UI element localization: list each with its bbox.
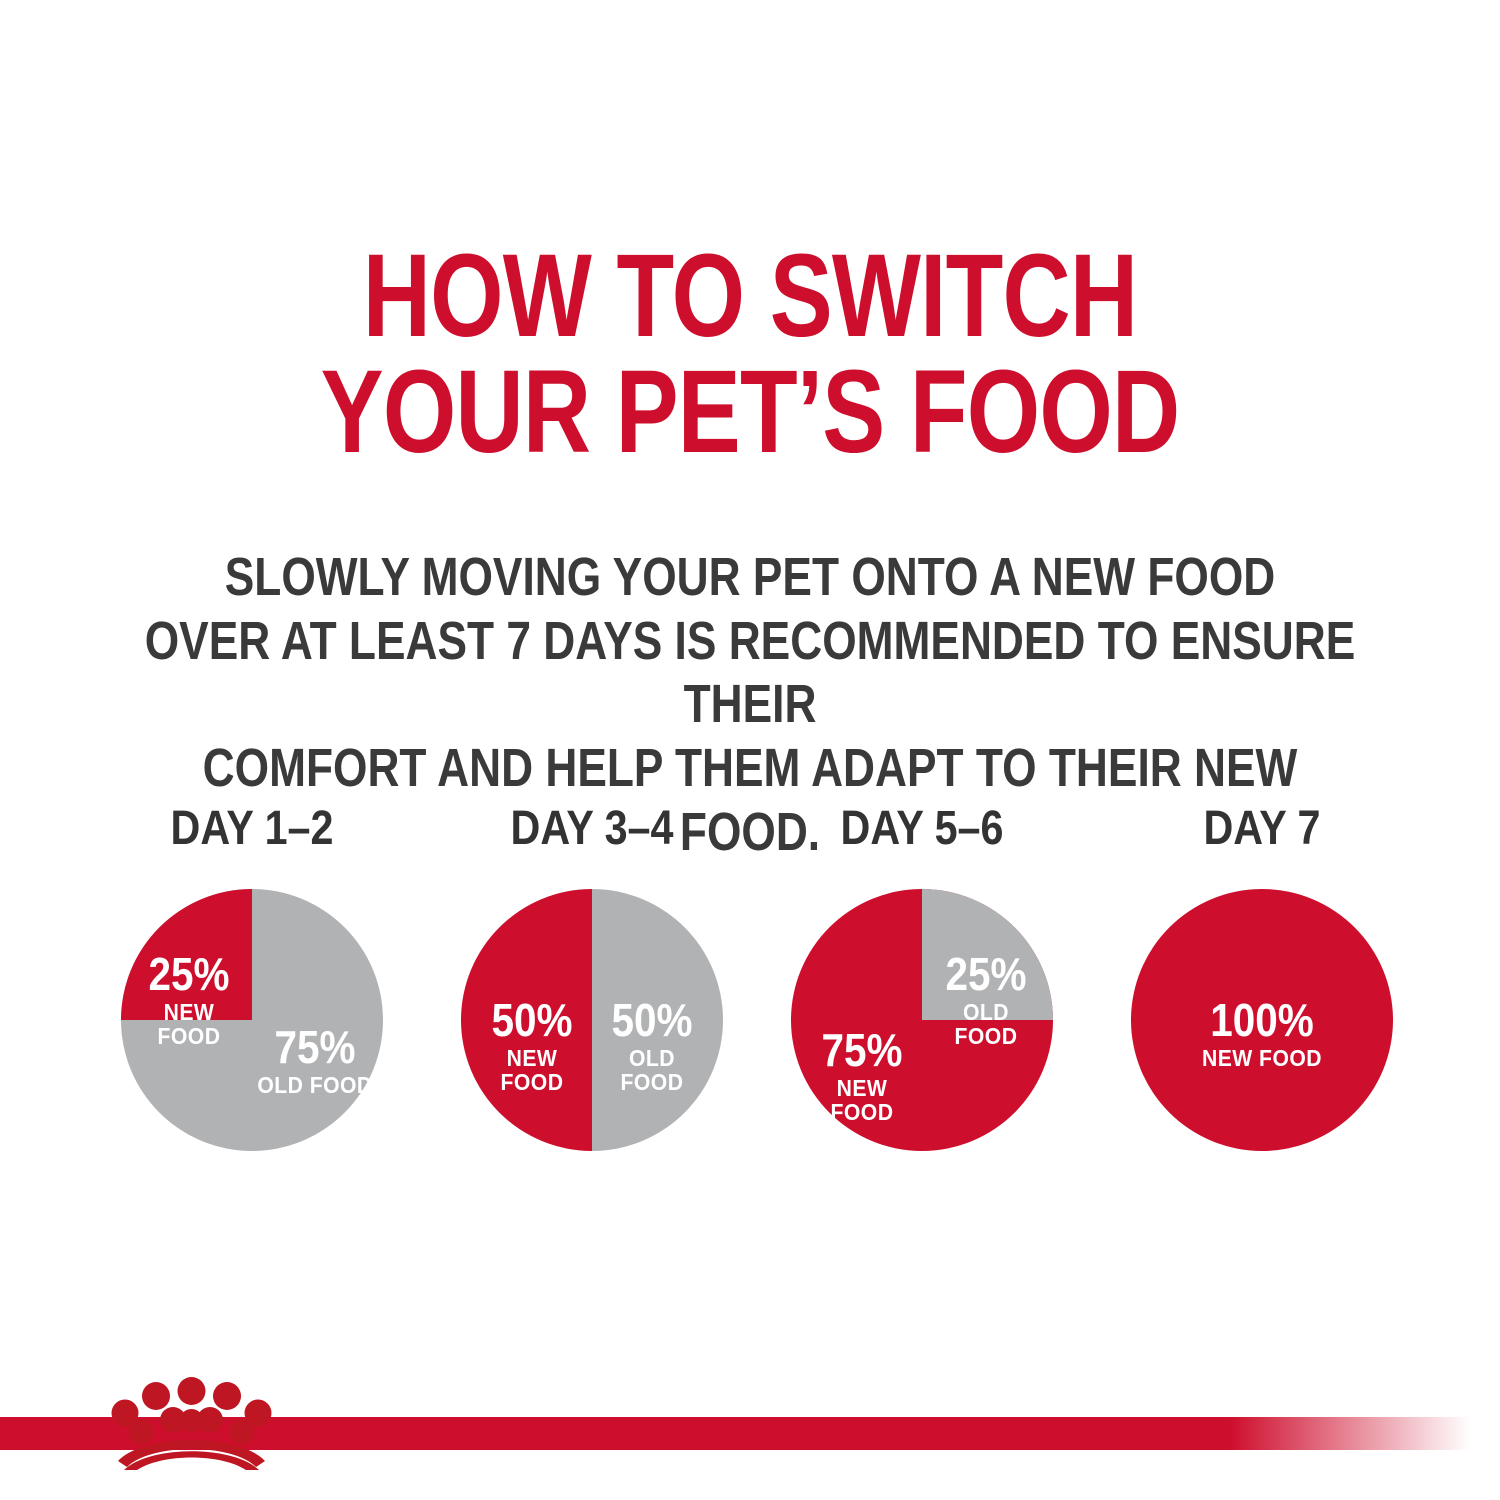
pie-shape [461, 889, 723, 1151]
pie-slice-old-food [922, 889, 1053, 1020]
pie-slice-new-food [121, 889, 252, 1020]
pie-chart-day-3-4: 50% NEW FOOD 50% OLD FOOD [461, 889, 723, 1151]
pie-slice-new-food [461, 889, 592, 1151]
infographic-canvas: HOW TO SWITCH YOUR PET’S FOOD SLOWLY MOV… [0, 0, 1500, 1500]
pie-shape [1131, 889, 1393, 1151]
day-label-1: DAY 1–2 [123, 805, 381, 853]
pie-shape [121, 889, 383, 1151]
page-title: HOW TO SWITCH YOUR PET’S FOOD [150, 239, 1350, 470]
step-day-1-2: DAY 1–2 25% NEW FOOD 75% OLD FOOD [102, 805, 402, 1151]
royal-canin-crown-icon [104, 1375, 279, 1470]
step-day-3-4: DAY 3–4 50% NEW FOOD 50% OLD FOOD [442, 805, 742, 1151]
step-day-7: DAY 7 100% NEW FOOD [1112, 805, 1412, 1151]
step-day-5-6: DAY 5–6 25% OLD FOOD 75% NEW FOOD [772, 805, 1072, 1151]
pie-chart-day-5-6: 25% OLD FOOD 75% NEW FOOD [791, 889, 1053, 1151]
pie-chart-day-7: 100% NEW FOOD [1131, 889, 1393, 1151]
day-label-2: DAY 3–4 [463, 805, 721, 853]
day-label-4: DAY 7 [1133, 805, 1391, 853]
footer [0, 1395, 1500, 1500]
pie-shape [791, 889, 1053, 1151]
pie-slice-new-food [1131, 889, 1393, 1151]
pie-slice-old-food [592, 889, 723, 1151]
day-label-3: DAY 5–6 [793, 805, 1051, 853]
food-transition-chart-row: DAY 1–2 25% NEW FOOD 75% OLD FOOD DAY 3–… [0, 805, 1500, 1185]
pie-chart-day-1-2: 25% NEW FOOD 75% OLD FOOD [121, 889, 383, 1151]
